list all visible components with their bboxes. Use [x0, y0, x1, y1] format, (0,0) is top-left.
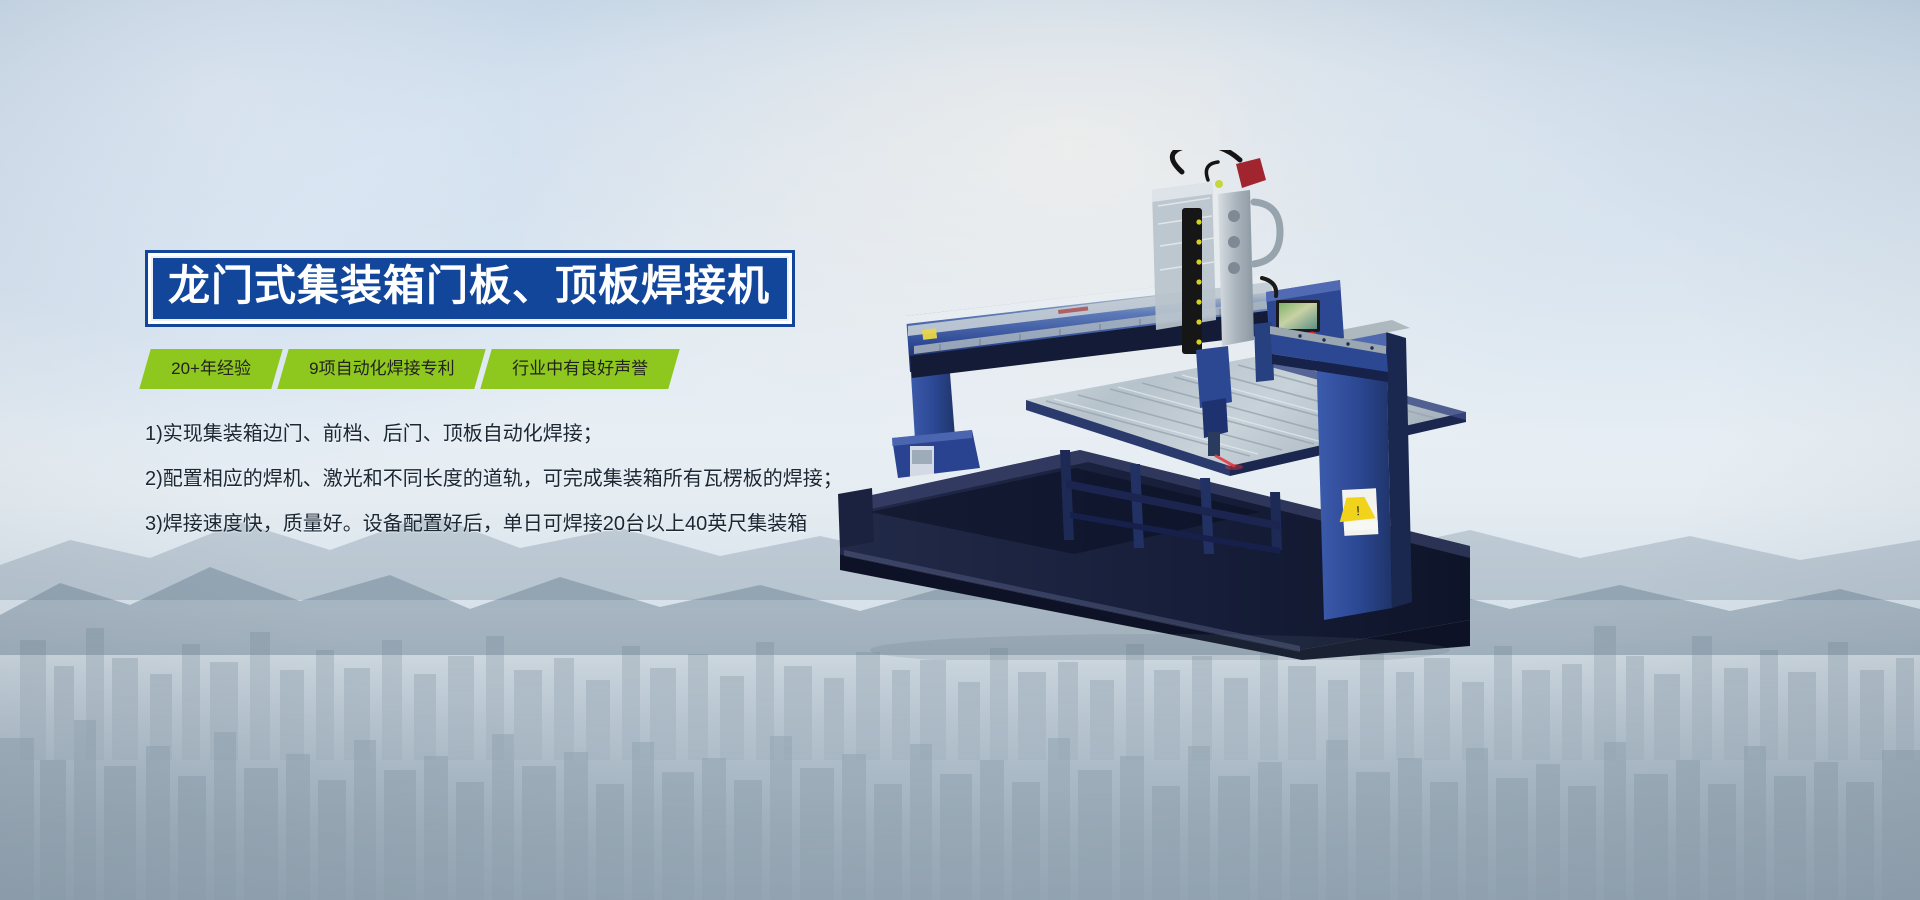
hmi-screen — [1279, 303, 1317, 329]
feature-bullet-3: 3)焊接速度快，质量好。设备配置好后，单日可焊接20台以上40英尺集装箱 — [145, 509, 905, 540]
feature-tag-patents: 9项自动化焊接专利 — [277, 349, 486, 389]
product-image-gantry-welder: 龙门式集装箱门板、顶板焊接机设备照片 — [830, 150, 1470, 660]
feature-tag-list: 20+年经验 9项自动化焊接专利 行业中有良好声誉 — [145, 349, 905, 389]
feature-tag-reputation-label: 行业中有良好声誉 — [512, 360, 648, 377]
feature-bullet-1: 1)实现集装箱边门、前档、后门、顶板自动化焊接； — [145, 419, 905, 450]
feature-tag-experience: 20+年经验 — [139, 349, 282, 389]
feature-tag-reputation: 行业中有良好声誉 — [481, 349, 680, 389]
feature-tag-patents-label: 9项自动化焊接专利 — [309, 360, 454, 377]
feature-bullet-list: 1)实现集装箱边门、前档、后门、顶板自动化焊接； 2)配置相应的焊机、激光和不同… — [145, 419, 905, 540]
page-title: 龙门式集装箱门板、顶板焊接机 — [168, 262, 770, 311]
page-title-box: 龙门式集装箱门板、顶板焊接机 — [145, 250, 795, 327]
feature-tag-experience-label: 20+年经验 — [171, 360, 251, 377]
hero-banner: 龙门式集装箱门板、顶板焊接机设备照片 — [0, 0, 1920, 900]
banner-content: 龙门式集装箱门板、顶板焊接机 20+年经验 9项自动化焊接专利 行业中有良好声誉… — [145, 250, 905, 540]
cable-chain — [1182, 208, 1202, 354]
feature-bullet-2: 2)配置相应的焊机、激光和不同长度的道轨，可完成集装箱所有瓦楞板的焊接； — [145, 464, 905, 495]
bottom-shade — [0, 640, 1920, 900]
